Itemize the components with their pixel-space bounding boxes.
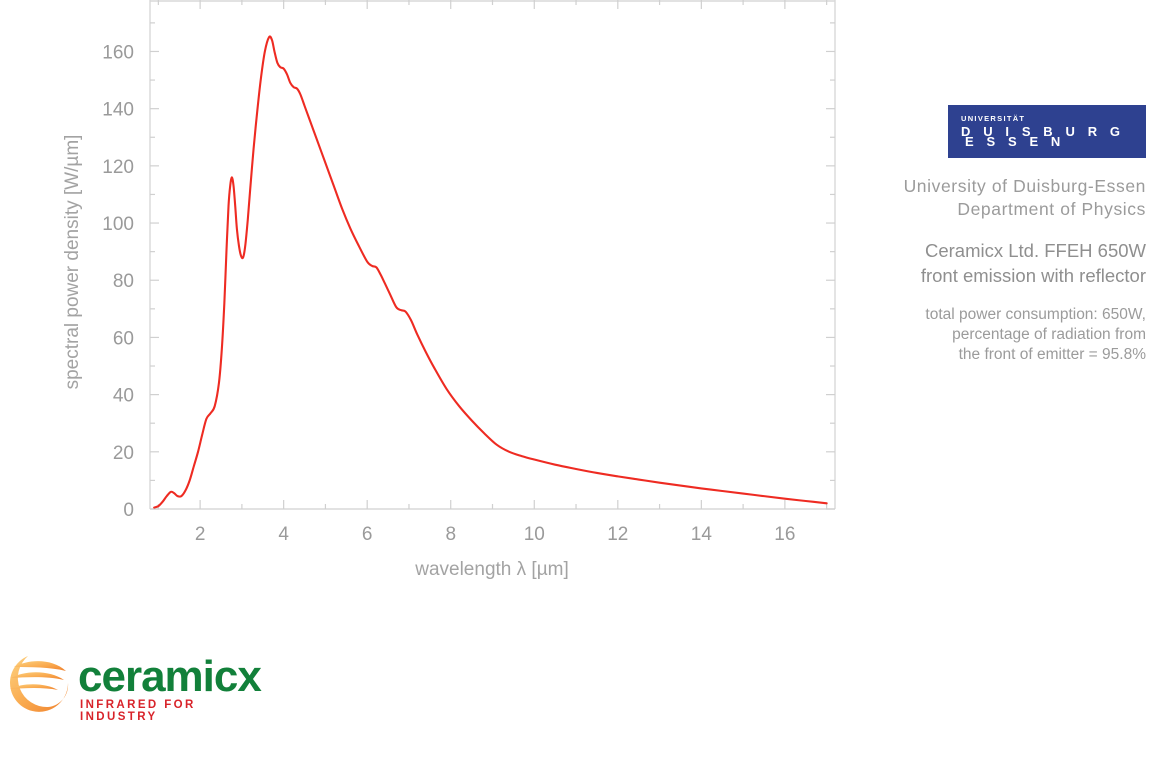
ceramicx-wordmark: ceramicx (78, 652, 261, 702)
product-configuration: front emission with reflector (884, 263, 1146, 288)
svg-text:2: 2 (195, 524, 206, 545)
svg-text:60: 60 (113, 328, 134, 349)
y-axis-title: spectral power density [W/µm] (62, 135, 83, 390)
institution-block: University of Duisburg-Essen Department … (884, 175, 1146, 221)
svg-text:0: 0 (123, 500, 134, 521)
measurement-details-block: total power consumption: 650W, percentag… (884, 305, 1146, 365)
spectral-power-density-chart: 246810121416020406080100120140160 wavele… (0, 0, 860, 600)
svg-text:4: 4 (278, 524, 289, 545)
department-name: Department of Physics (884, 198, 1146, 221)
logo-essen-text: E S S E N (965, 134, 1065, 149)
svg-text:16: 16 (774, 524, 795, 545)
ceramicx-flame-icon (8, 645, 78, 723)
institution-name: University of Duisburg-Essen (884, 175, 1146, 198)
axis-ticks (150, 0, 835, 509)
logo-universitat-text: UNIVERSITÄT (961, 114, 1025, 123)
info-panel: UNIVERSITÄT D U I S B U R G E S S E N Un… (884, 105, 1146, 365)
svg-text:80: 80 (113, 271, 134, 292)
svg-text:160: 160 (102, 42, 134, 63)
svg-text:100: 100 (102, 214, 134, 235)
ceramicx-logo: ceramicx INFRARED FOR INDUSTRY (8, 645, 248, 725)
svg-text:8: 8 (445, 524, 456, 545)
product-block: Ceramicx Ltd. FFEH 650W front emission w… (884, 238, 1146, 288)
radiation-percentage-text-1: percentage of radiation from (884, 325, 1146, 345)
power-consumption-text: total power consumption: 650W, (884, 305, 1146, 325)
chart-area: 246810121416020406080100120140160 wavele… (0, 0, 860, 600)
x-axis-title: wavelength λ [µm] (414, 559, 569, 580)
university-duisburg-essen-logo: UNIVERSITÄT D U I S B U R G E S S E N (948, 105, 1146, 158)
plot-frame (150, 0, 835, 509)
svg-text:20: 20 (113, 443, 134, 464)
spectral-curve (154, 36, 826, 507)
svg-text:40: 40 (113, 386, 134, 407)
svg-text:120: 120 (102, 157, 134, 178)
svg-text:10: 10 (524, 524, 545, 545)
svg-text:14: 14 (691, 524, 713, 545)
svg-text:6: 6 (362, 524, 373, 545)
svg-text:140: 140 (102, 100, 134, 121)
axis-tick-labels: 246810121416020406080100120140160 (102, 42, 795, 545)
ceramicx-tagline: INFRARED FOR INDUSTRY (80, 699, 248, 723)
radiation-percentage-text-2: the front of emitter = 95.8% (884, 345, 1146, 365)
product-model: Ceramicx Ltd. FFEH 650W (884, 238, 1146, 263)
svg-text:12: 12 (607, 524, 628, 545)
